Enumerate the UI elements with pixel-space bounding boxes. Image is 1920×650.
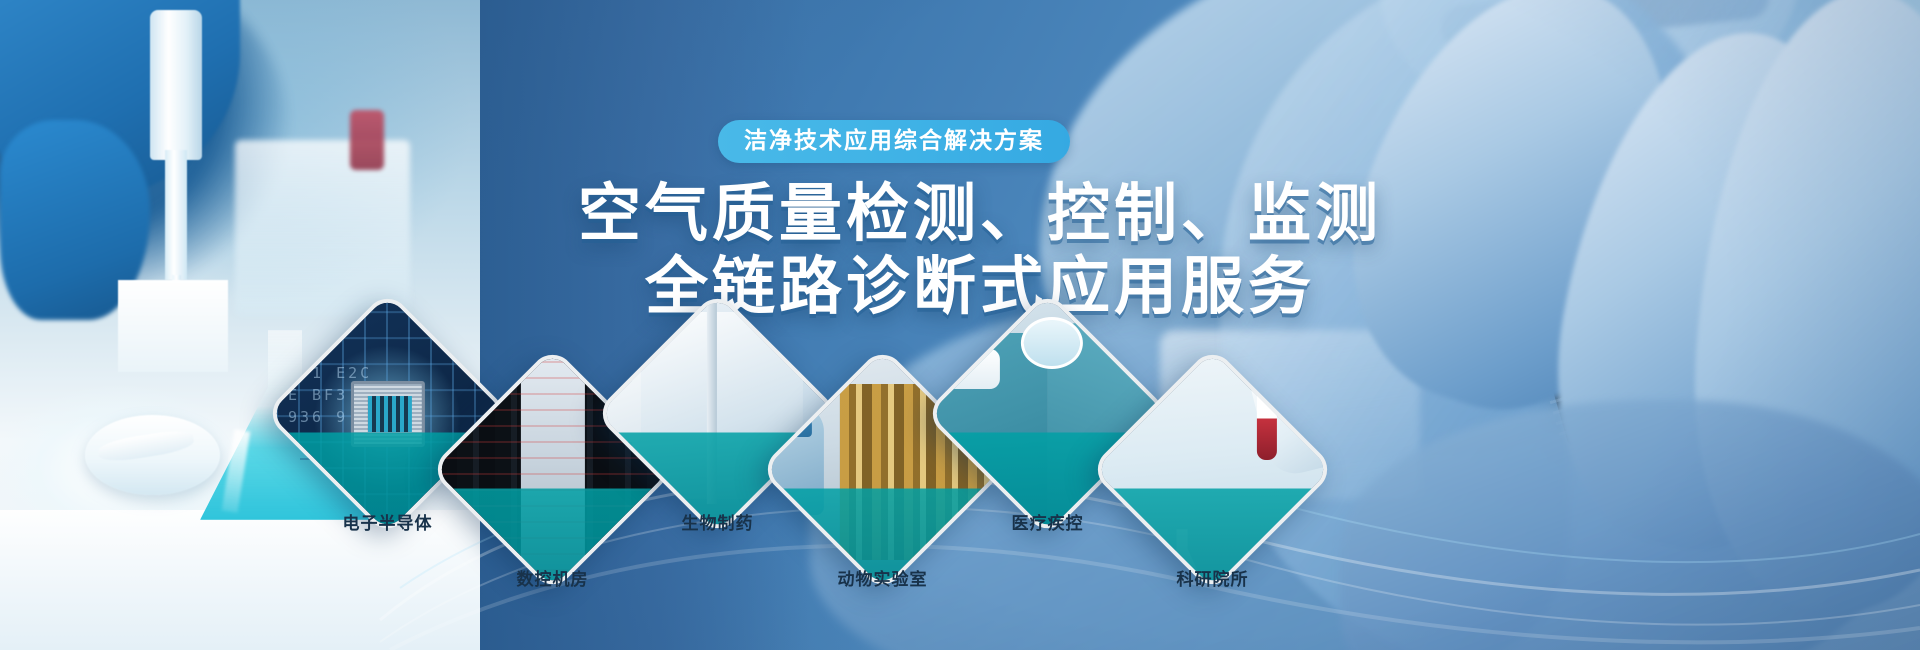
card-teal-corner [1094,351,1330,587]
card-research-institute[interactable]: 科研院所 [1125,382,1300,557]
card-label: 动物实验室 [838,565,928,590]
card-label: 电子半导体 [343,509,433,534]
industry-card-row: 6AE2 F D59267 8 1 E2C0 E BF3 82697 936 9… [0,0,1920,650]
hero-banner: 洁净技术应用综合解决方案 空气质量检测、控制、监测 全链路诊断式应用服务 6AE… [0,0,1920,650]
card-diamond-frame [1089,346,1336,593]
card-label: 生物制药 [682,509,754,534]
card-label: 数控机房 [517,565,589,590]
card-label: 科研院所 [1177,565,1249,590]
card-label: 医疗疾控 [1012,509,1084,534]
